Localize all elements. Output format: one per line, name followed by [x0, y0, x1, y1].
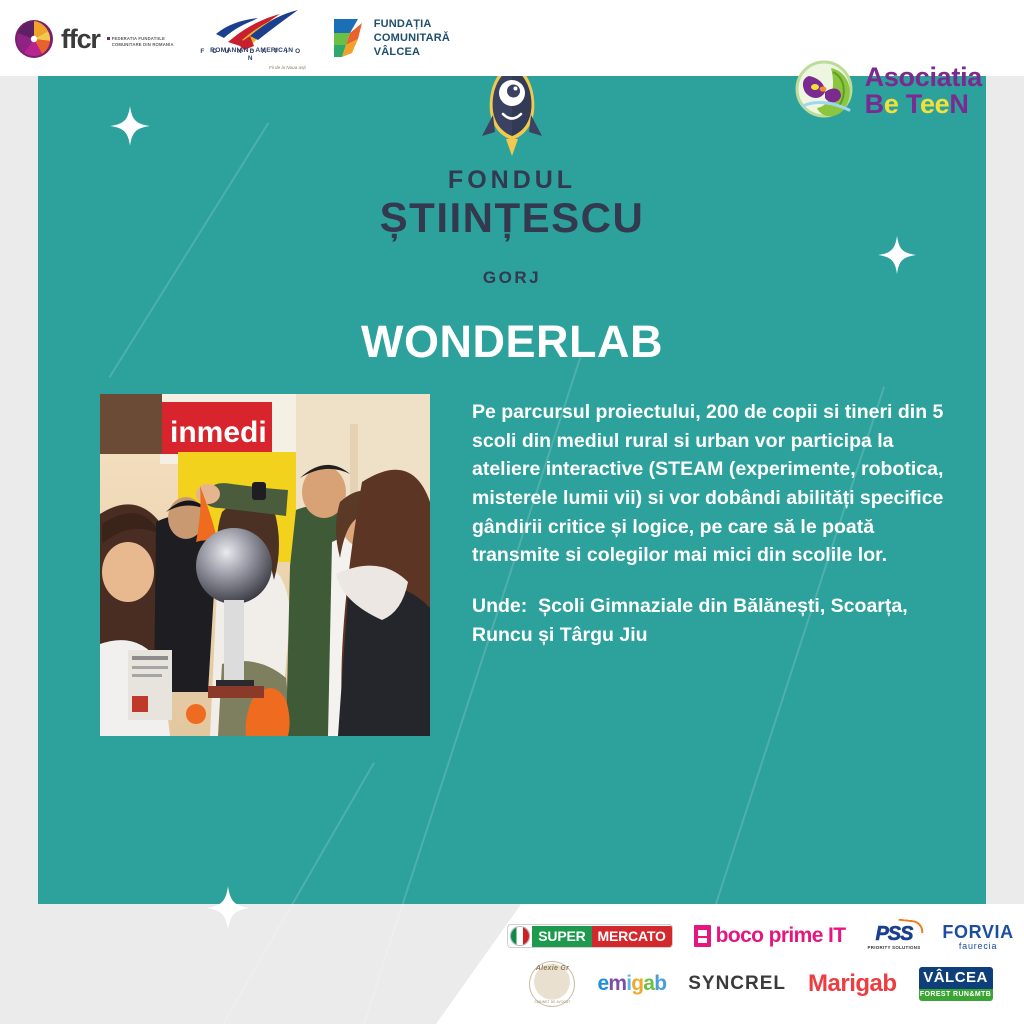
- partner-logo-ffcr: ffcr FEDERATIA FUNDATIILE COMUNITARE DIN…: [14, 19, 176, 59]
- fcv-logo-icon: [328, 17, 366, 61]
- beteen-logo: Asociatia Be TeeN: [793, 58, 982, 124]
- sponsor-emigab: emigab: [597, 972, 666, 996]
- super-mercato-word2: MERCATO: [592, 926, 672, 947]
- fcv-line3: VÂLCEA: [374, 46, 450, 60]
- sponsor-row-1: SUPER MERCATO boco prime IT PSS PRIORITY…: [436, 918, 1024, 954]
- pss-arc-icon: [898, 918, 925, 933]
- fcv-line2: COMUNITARĂ: [374, 32, 450, 46]
- alexie-subtitle: CABINET DE AVOCAT: [529, 1000, 575, 1004]
- boco-wordmark: boco prime IT: [716, 924, 846, 948]
- project-photo: inmedi: [100, 394, 430, 736]
- poster-root: ffcr FEDERATIA FUNDATIILE COMUNITARE DIN…: [0, 0, 1024, 1024]
- ffcr-wordmark: ffcr: [61, 26, 100, 53]
- county-label: GORJ: [0, 268, 1024, 288]
- raf-tagline: Fii de la Noua asți: [216, 65, 306, 70]
- beteen-line2: Be TeeN: [865, 91, 982, 118]
- page-title: WONDERLAB: [0, 316, 1024, 368]
- pss-subtitle: PRIORITY SOLUTIONS: [868, 945, 921, 950]
- forvia-wordmark: FORVIA: [942, 922, 1013, 943]
- project-location: Unde: Școli Gimnaziale din Bălănești, Sc…: [472, 592, 950, 649]
- sponsor-boco-prime-it: boco prime IT: [694, 924, 846, 948]
- project-description-block: Pe parcursul proiectului, 200 de copii s…: [472, 398, 950, 649]
- fund-line1: FONDUL: [0, 168, 1024, 193]
- location-label: Unde:: [472, 595, 527, 617]
- sponsor-syncrel: SYNCREL: [688, 973, 786, 995]
- beteen-wordmark: Asociatia Be TeeN: [865, 64, 982, 118]
- ffcr-bullet-icon: [107, 37, 110, 40]
- raf-bird-icon: [198, 6, 306, 52]
- sponsor-row-2: Alexie Gr CABINET DE AVOCAT emigab SYNCR…: [436, 960, 1024, 1008]
- sponsor-pss: PSS PRIORITY SOLUTIONS: [868, 923, 921, 950]
- boco-mark-icon: [694, 925, 711, 947]
- valcea-wordmark: VÂLCEA: [919, 967, 993, 989]
- ffcr-subtitle: FEDERATIA FUNDATIILE COMUNITARE DIN ROMA…: [112, 36, 176, 48]
- partner-logo-romanian-american-foundation: ROMANIAN - AMERICAN F O U N D A T I O N …: [198, 8, 306, 70]
- raf-line2: F O U N D A T I O N: [198, 48, 306, 62]
- beteen-butterfly-leaf-icon: [793, 58, 859, 124]
- project-description: Pe parcursul proiectului, 200 de copii s…: [472, 398, 950, 570]
- sparkle-icon: [204, 884, 252, 932]
- sponsor-super-mercato: SUPER MERCATO: [508, 925, 671, 947]
- fund-line2: ȘTIINȚESCU: [0, 195, 1024, 240]
- super-mercato-word1: SUPER: [532, 926, 591, 947]
- sponsor-forvia: FORVIA faurecia: [942, 922, 1013, 951]
- beteen-line1: Asociatia: [865, 64, 982, 91]
- italian-flag-icon: [510, 926, 530, 946]
- sponsor-marigab: Marigab: [808, 970, 897, 998]
- fcv-line1: FUNDAȚIA: [374, 18, 450, 32]
- ffcr-subtitle-wrap: FEDERATIA FUNDATIILE COMUNITARE DIN ROMA…: [107, 30, 176, 48]
- sponsor-valcea-forest-run: VÂLCEA FOREST RUN&MTB: [919, 967, 993, 1001]
- alexie-wordmark: Alexie Gr: [529, 965, 575, 972]
- teal-panel-bottom-left-notch: [38, 800, 158, 950]
- partner-logo-row: ffcr FEDERATIA FUNDATIILE COMUNITARE DIN…: [14, 8, 450, 70]
- ffcr-logo-icon: [14, 19, 54, 59]
- partner-logo-fundatia-comunitara-valcea: FUNDAȚIA COMUNITARĂ VÂLCEA: [328, 17, 450, 61]
- location-value: Școli Gimnaziale din Bălănești, Scoarța,…: [472, 595, 908, 646]
- sponsor-strip: SUPER MERCATO boco prime IT PSS PRIORITY…: [436, 904, 1024, 1024]
- svg-text:inmedi: inmedi: [170, 416, 267, 449]
- fcv-text-block: FUNDAȚIA COMUNITARĂ VÂLCEA: [374, 18, 450, 59]
- valcea-subtitle: FOREST RUN&MTB: [919, 989, 993, 1001]
- sponsor-alexie-seal: Alexie Gr CABINET DE AVOCAT: [529, 961, 575, 1007]
